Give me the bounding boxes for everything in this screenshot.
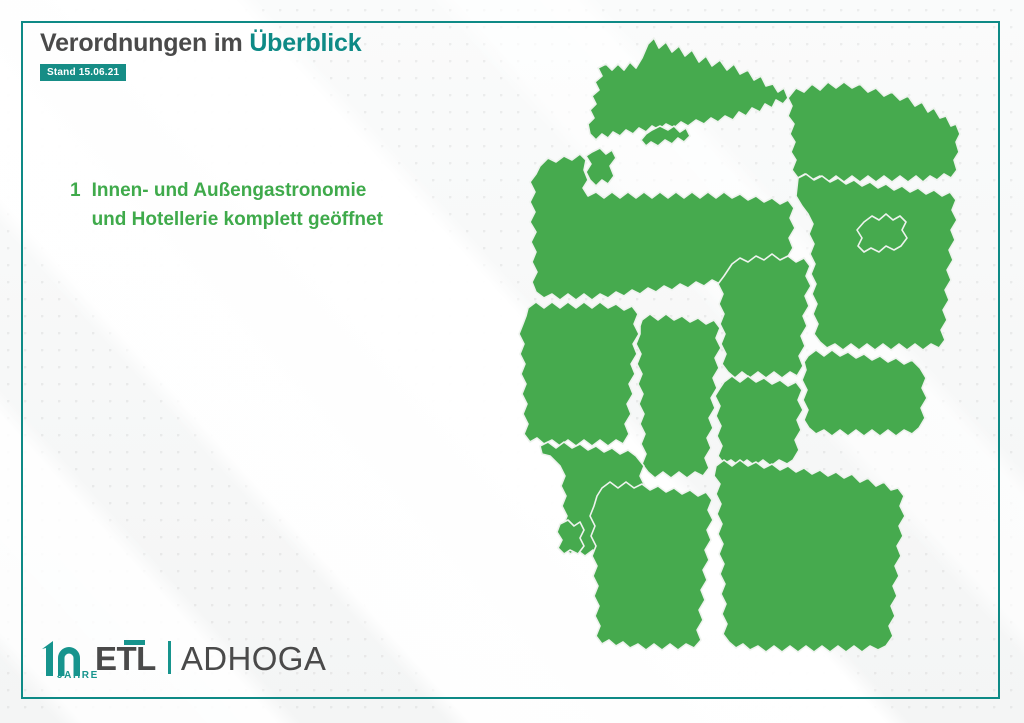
page-title: Verordnungen im Überblick <box>40 30 361 58</box>
map-region-schleswig-holstein[interactable] <box>588 38 788 140</box>
header: Verordnungen im Überblick Stand 15.06.21 <box>40 30 361 81</box>
germany-map <box>496 26 1016 696</box>
legend-item-label: Innen- und Außengastronomie und Hoteller… <box>92 176 383 234</box>
map-region-hessen[interactable] <box>636 314 721 478</box>
logo-etl-accent-bar <box>124 640 145 645</box>
page-title-accent: Überblick <box>249 29 361 57</box>
logo-etl-wordmark: ETL <box>95 642 156 682</box>
map-region-sachsen[interactable] <box>802 350 927 436</box>
map-region-saarland[interactable] <box>557 520 584 554</box>
page-title-main: Verordnungen im <box>40 29 249 57</box>
legend-item-number: 1 <box>70 176 81 205</box>
brand-logo: JAHRE ETL ADHOGA <box>36 636 326 682</box>
map-region-baden-wuerttemberg[interactable] <box>590 482 713 650</box>
map-region-thueringen[interactable] <box>715 376 803 466</box>
germany-map-svg <box>496 26 1016 696</box>
map-region-nordrhein-westfalen[interactable] <box>519 302 639 446</box>
poster-canvas: Verordnungen im Überblick Stand 15.06.21… <box>0 0 1024 723</box>
legend-item-1: 1 Innen- und Außengastronomie und Hotell… <box>70 176 383 234</box>
map-region-brandenburg[interactable] <box>796 174 957 350</box>
anniversary-jahre-label: JAHRE <box>57 670 99 681</box>
logo-adhoga-text: ADHOGA <box>181 642 326 682</box>
map-region-sachsen-anhalt[interactable] <box>718 254 811 378</box>
logo-etl-text: ETL <box>95 640 156 677</box>
logo-divider <box>168 641 171 674</box>
status-badge: Stand 15.06.21 <box>40 64 126 82</box>
map-region-mecklenburg-vorpommern[interactable] <box>788 82 960 182</box>
anniversary-10-jahre-mark: JAHRE <box>36 636 96 682</box>
map-region-bremen[interactable] <box>586 148 616 186</box>
map-region-bayern[interactable] <box>714 460 905 652</box>
